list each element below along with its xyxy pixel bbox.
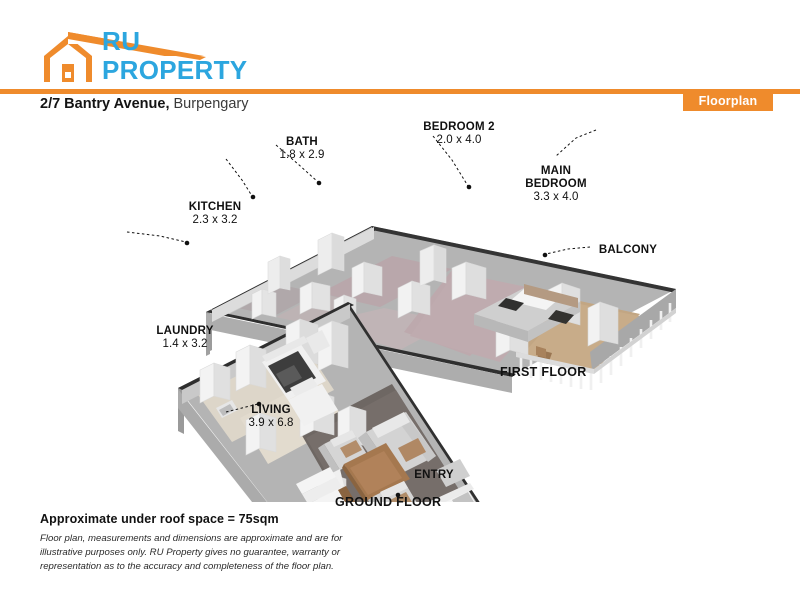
room-name-laundry: LAUNDRY — [142, 325, 228, 338]
address-suburb: Burpengary — [174, 96, 249, 112]
room-label-entry: ENTRY — [406, 469, 462, 482]
address-street: 2/7 Bantry Avenue, — [40, 96, 169, 112]
property-address: 2/7 Bantry Avenue, Burpengary — [40, 96, 248, 112]
room-name-living: LIVING — [228, 404, 314, 417]
brand-name-line1: RU — [102, 28, 247, 54]
brand-name-line2: PROPERTY — [102, 57, 247, 83]
header-divider — [0, 89, 800, 94]
room-dim-kitchen: 2.3 x 3.2 — [172, 214, 258, 227]
room-name-bedroom2: BEDROOM 2 — [404, 121, 514, 134]
floor-label-first: FIRST FLOOR — [500, 365, 587, 379]
floorplan-svg — [0, 112, 800, 502]
floor-label-ground: GROUND FLOOR — [335, 495, 441, 509]
room-name-entry: ENTRY — [406, 469, 462, 482]
room-name-main-bedroom-line1: MAIN — [508, 165, 604, 178]
footer: Approximate under roof space = 75sqm Flo… — [40, 512, 460, 574]
room-label-kitchen: KITCHEN 2.3 x 3.2 — [172, 201, 258, 227]
room-label-laundry: LAUNDRY 1.4 x 3.2 — [142, 325, 228, 351]
room-label-balcony: BALCONY — [586, 244, 670, 257]
room-dim-bedroom2: 2.0 x 4.0 — [404, 134, 514, 147]
room-name-kitchen: KITCHEN — [172, 201, 258, 214]
room-dim-living: 3.9 x 6.8 — [228, 417, 314, 430]
room-name-bath: BATH — [272, 136, 332, 149]
room-label-living: LIVING 3.9 x 6.8 — [228, 404, 314, 430]
floorplan-page: RU PROPERTY 2/7 Bantry Avenue, Burpengar… — [0, 0, 800, 600]
brand-logo: RU PROPERTY — [40, 26, 240, 88]
room-name-balcony: BALCONY — [586, 244, 670, 257]
disclaimer-text: Floor plan, measurements and dimensions … — [40, 532, 365, 574]
room-dim-laundry: 1.4 x 3.2 — [142, 338, 228, 351]
brand-wordmark: RU PROPERTY — [102, 28, 247, 83]
room-name-main-bedroom-line2: BEDROOM — [508, 178, 604, 191]
floorplan-badge: Floorplan — [683, 91, 773, 111]
roof-space-heading: Approximate under roof space = 75sqm — [40, 512, 460, 526]
room-label-bath: BATH 1.8 x 2.9 — [272, 136, 332, 162]
room-dim-bath: 1.8 x 2.9 — [272, 149, 332, 162]
floorplan-illustration — [0, 112, 800, 502]
room-label-bedroom2: BEDROOM 2 2.0 x 4.0 — [404, 121, 514, 147]
room-label-main-bedroom: MAIN BEDROOM 3.3 x 4.0 — [508, 165, 604, 204]
room-dim-main-bedroom: 3.3 x 4.0 — [508, 191, 604, 204]
